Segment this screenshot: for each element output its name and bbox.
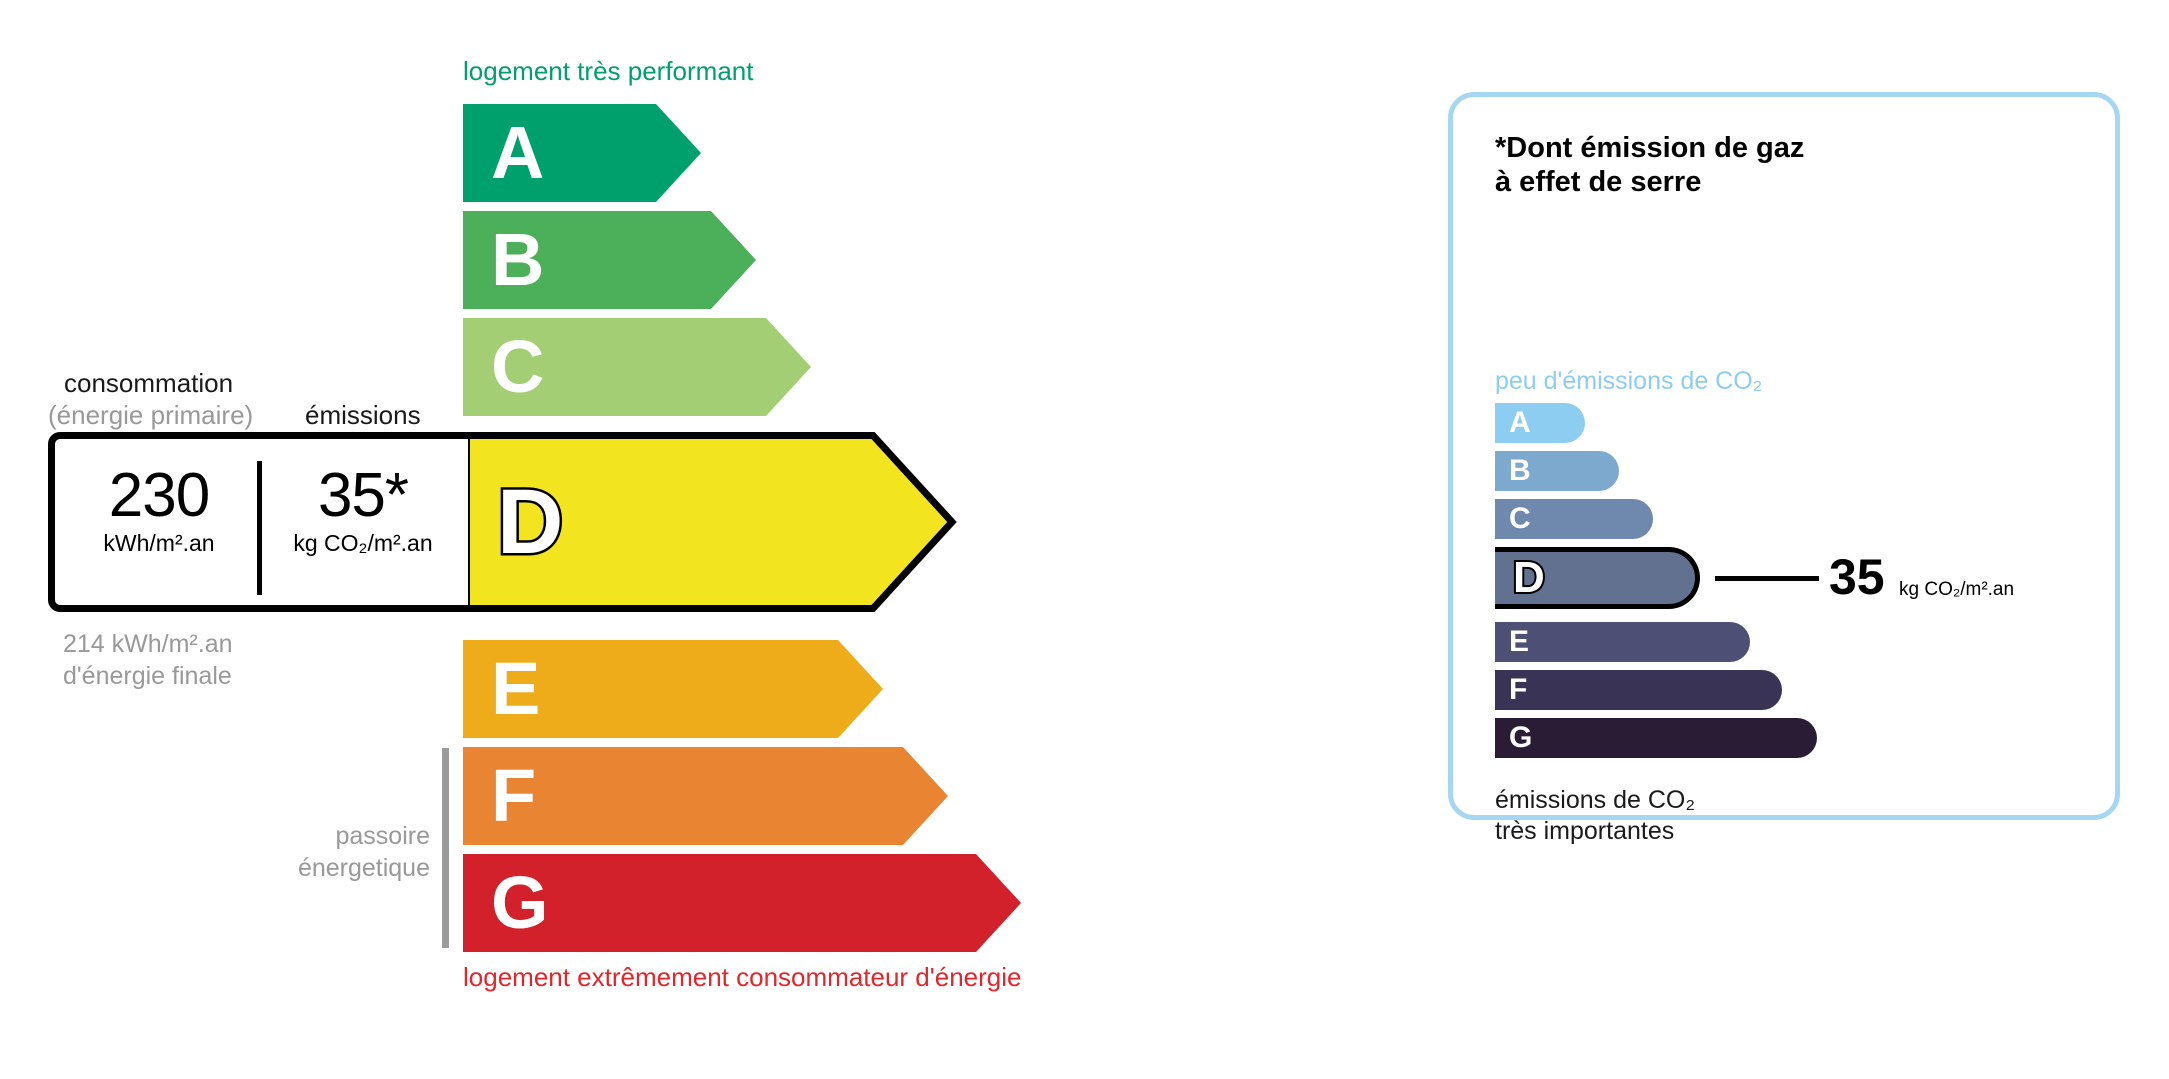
energy-top-label: logement très performant (463, 56, 753, 87)
co2-title-line2: à effet de serre (1495, 165, 1804, 199)
energy-letter-b: B (491, 223, 544, 297)
co2-callout-unit: kg CO₂/m².an (1899, 579, 2014, 601)
co2-bar-shape-e (1495, 622, 1750, 662)
co2-bottom-label-line1: émissions de CO₂ (1495, 785, 1695, 816)
passoire-label-line2: énergetique (270, 852, 430, 884)
co2-top-label: peu d'émissions de CO₂ (1495, 367, 1762, 396)
co2-letter-f: F (1509, 675, 1527, 705)
co2-letter-g: G (1509, 723, 1532, 753)
co2-bottom-label: émissions de CO₂ très importantes (1495, 785, 1695, 847)
passoire-indicator-bar (442, 748, 449, 948)
value-box-divider (257, 461, 262, 595)
co2-bar-e: E (1495, 622, 1750, 662)
emissions-value: 35* (263, 463, 463, 528)
co2-bar-c: C (1495, 499, 1653, 539)
co2-bar-f: F (1495, 670, 1782, 710)
co2-bar-shape-f (1495, 670, 1782, 710)
emissions-label: émissions (305, 400, 421, 431)
co2-bar-g: G (1495, 718, 1817, 758)
co2-letter-d: D (1513, 556, 1545, 600)
energy-letter-g: G (491, 866, 549, 940)
energy-bar-d: D (463, 432, 958, 612)
energy-letter-c: C (491, 330, 544, 404)
co2-bar-shape-g (1495, 718, 1817, 758)
co2-bar-a: A (1495, 403, 1585, 443)
emissions-unit: kg CO₂/m².an (263, 530, 463, 557)
co2-bottom-label-line2: très importantes (1495, 816, 1695, 847)
co2-callout-value: 35 (1829, 552, 1885, 602)
co2-callout-leader-line (1715, 576, 1819, 581)
consumption-label: consommation (64, 368, 233, 399)
dpe-diagram: logement très performant A B (0, 0, 2169, 1079)
co2-title-line1: *Dont émission de gaz (1495, 131, 1804, 165)
energy-performance-panel: logement très performant A B (0, 0, 1400, 1079)
co2-letter-b: B (1509, 456, 1531, 486)
primary-energy-label: (énergie primaire) (48, 400, 253, 431)
co2-letter-e: E (1509, 627, 1529, 657)
final-energy-value: 214 kWh/m².an (63, 628, 233, 660)
energy-bar-a: A (463, 104, 701, 202)
co2-bar-b: B (1495, 451, 1619, 491)
co2-emissions-panel: *Dont émission de gaz à effet de serre p… (1448, 92, 2120, 820)
emissions-value-cell: 35* kg CO₂/m².an (263, 463, 463, 557)
co2-letter-c: C (1509, 504, 1531, 534)
energy-letter-a: A (491, 116, 544, 190)
energy-bar-b: B (463, 211, 756, 309)
energy-letter-e: E (491, 652, 540, 726)
energy-bar-g: G (463, 854, 1021, 952)
energy-bar-c: C (463, 318, 811, 416)
passoire-label: passoire énergetique (270, 820, 430, 884)
consumption-value: 230 (61, 463, 257, 528)
energy-letter-f: F (491, 759, 536, 833)
co2-letter-a: A (1509, 408, 1531, 438)
energy-bar-e: E (463, 640, 883, 738)
consumption-unit: kWh/m².an (61, 530, 257, 557)
co2-bar-d: D (1495, 547, 1700, 609)
final-energy-caption: d'énergie finale (63, 660, 233, 692)
value-box: 230 kWh/m².an 35* kg CO₂/m².an (48, 432, 468, 612)
consumption-value-cell: 230 kWh/m².an (61, 463, 257, 557)
final-energy-label: 214 kWh/m².an d'énergie finale (63, 628, 233, 692)
energy-bottom-label: logement extrêmement consommateur d'éner… (463, 962, 1021, 993)
energy-letter-d: D (497, 476, 563, 568)
passoire-label-line1: passoire (270, 820, 430, 852)
energy-bar-f: F (463, 747, 948, 845)
co2-panel-title: *Dont émission de gaz à effet de serre (1495, 131, 1804, 199)
